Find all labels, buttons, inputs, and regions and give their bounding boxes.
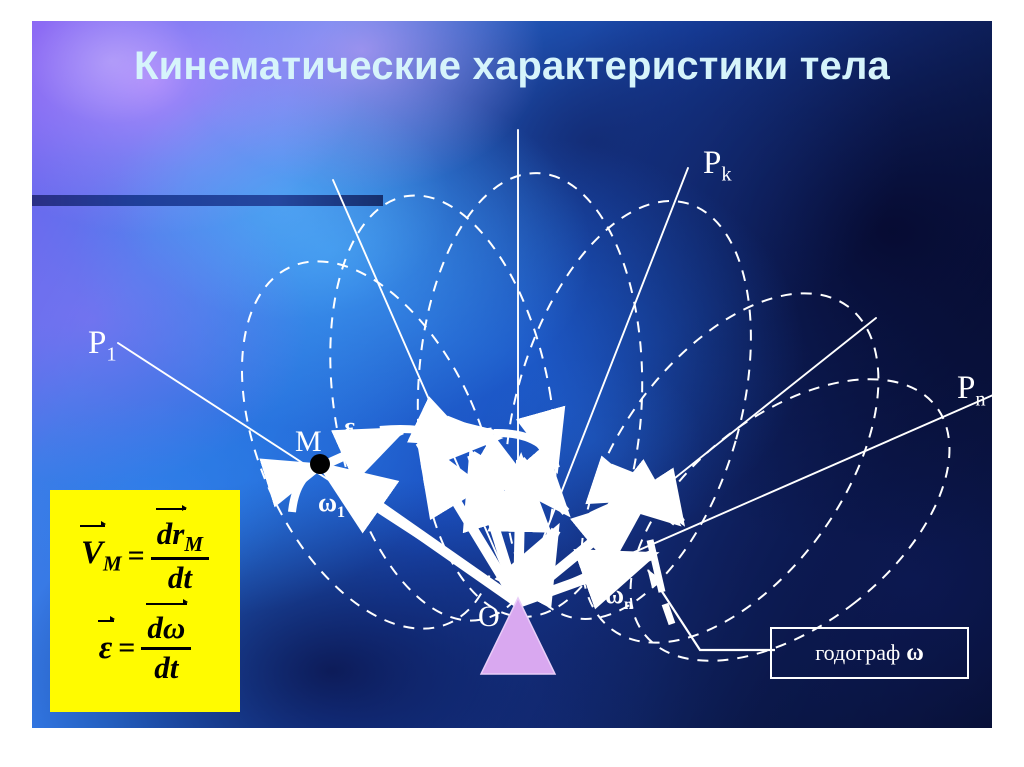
formula-acceleration-equals: = [118,631,135,665]
formula-velocity: VM = drM dt [81,518,209,595]
formula-velocity-equals: = [128,539,145,573]
slide-root: Кинематические характеристики тела [0,0,1024,767]
hodograph-tick-marks [650,540,672,624]
formula-velocity-fraction: drM dt [151,518,209,595]
hodograph-callout: годограф ω [770,627,969,679]
formula-velocity-denominator: dt [162,562,198,595]
hodograph-label: годограф [815,640,900,666]
formula-acceleration: ε = dω dt [99,612,192,684]
formula-velocity-numerator: drM [151,518,209,555]
formula-acceleration-numerator: dω [141,612,191,645]
page-title: Кинематические характеристики тела [0,44,1024,89]
formula-acceleration-lhs: ε [99,630,113,667]
formula-acceleration-denominator: dt [148,652,184,685]
point-marker-m [310,454,330,474]
formula-acceleration-fraction: dω dt [141,612,191,684]
formula-box: VM = drM dt ε = dω dt [50,490,240,712]
origin-cone [481,598,555,674]
formula-velocity-lhs: VM [81,535,122,577]
hodograph-symbol: ω [906,640,924,667]
omega-rotation-arcs [292,429,648,516]
